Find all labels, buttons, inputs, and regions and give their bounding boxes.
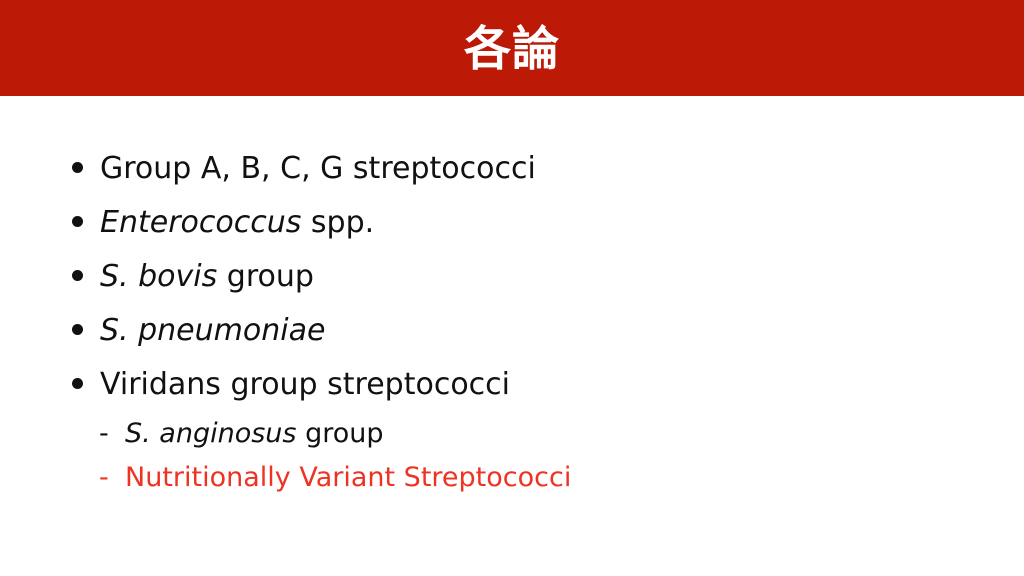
text-run: Nutritionally Variant Streptococci bbox=[125, 462, 571, 493]
list-item-label: S. pneumoniae bbox=[100, 314, 325, 348]
bullet-list: Group A, B, C, G streptococci Enterococc… bbox=[72, 152, 972, 422]
list-item: S. bovis group bbox=[72, 260, 972, 314]
list-item-label: Group A, B, C, G streptococci bbox=[100, 152, 536, 186]
list-item-label: S. bovis group bbox=[100, 260, 314, 294]
text-run: group bbox=[217, 259, 314, 294]
page-title: 各論 bbox=[464, 26, 560, 73]
sub-list-item-label: S. anginosus group bbox=[125, 418, 383, 449]
text-run: Viridans group streptococci bbox=[100, 367, 510, 402]
text-run: group bbox=[296, 418, 383, 449]
text-run: Group A, B, C, G streptococci bbox=[100, 151, 536, 186]
list-item-label: Viridans group streptococci bbox=[100, 368, 510, 402]
bullet-dot-icon bbox=[72, 260, 100, 294]
dash-marker-icon: - bbox=[99, 418, 125, 449]
text-run-italic: S. anginosus bbox=[125, 418, 296, 449]
bullet-dot-icon bbox=[72, 152, 100, 186]
sub-bullet-list: - S. anginosus group - Nutritionally Var… bbox=[99, 418, 999, 506]
text-run: spp. bbox=[301, 205, 374, 240]
bullet-dot-icon bbox=[72, 368, 100, 402]
sub-list-item-label: Nutritionally Variant Streptococci bbox=[125, 462, 571, 493]
list-item: Group A, B, C, G streptococci bbox=[72, 152, 972, 206]
sub-list-item: - Nutritionally Variant Streptococci bbox=[99, 462, 999, 506]
list-item: Enterococcus spp. bbox=[72, 206, 972, 260]
text-run-italic: Enterococcus bbox=[100, 205, 301, 240]
dash-marker-icon: - bbox=[99, 462, 125, 493]
text-run-italic: S. bovis bbox=[100, 259, 217, 294]
bullet-dot-icon bbox=[72, 314, 100, 348]
slide: 各論 Group A, B, C, G streptococci Enteroc… bbox=[0, 0, 1024, 576]
list-item: S. pneumoniae bbox=[72, 314, 972, 368]
list-item: Viridans group streptococci bbox=[72, 368, 972, 422]
slide-content: Group A, B, C, G streptococci Enterococc… bbox=[0, 96, 1024, 576]
title-banner: 各論 bbox=[0, 0, 1024, 96]
text-run-italic: S. pneumoniae bbox=[100, 313, 325, 348]
sub-list-item: - S. anginosus group bbox=[99, 418, 999, 462]
list-item-label: Enterococcus spp. bbox=[100, 206, 374, 240]
bullet-dot-icon bbox=[72, 206, 100, 240]
